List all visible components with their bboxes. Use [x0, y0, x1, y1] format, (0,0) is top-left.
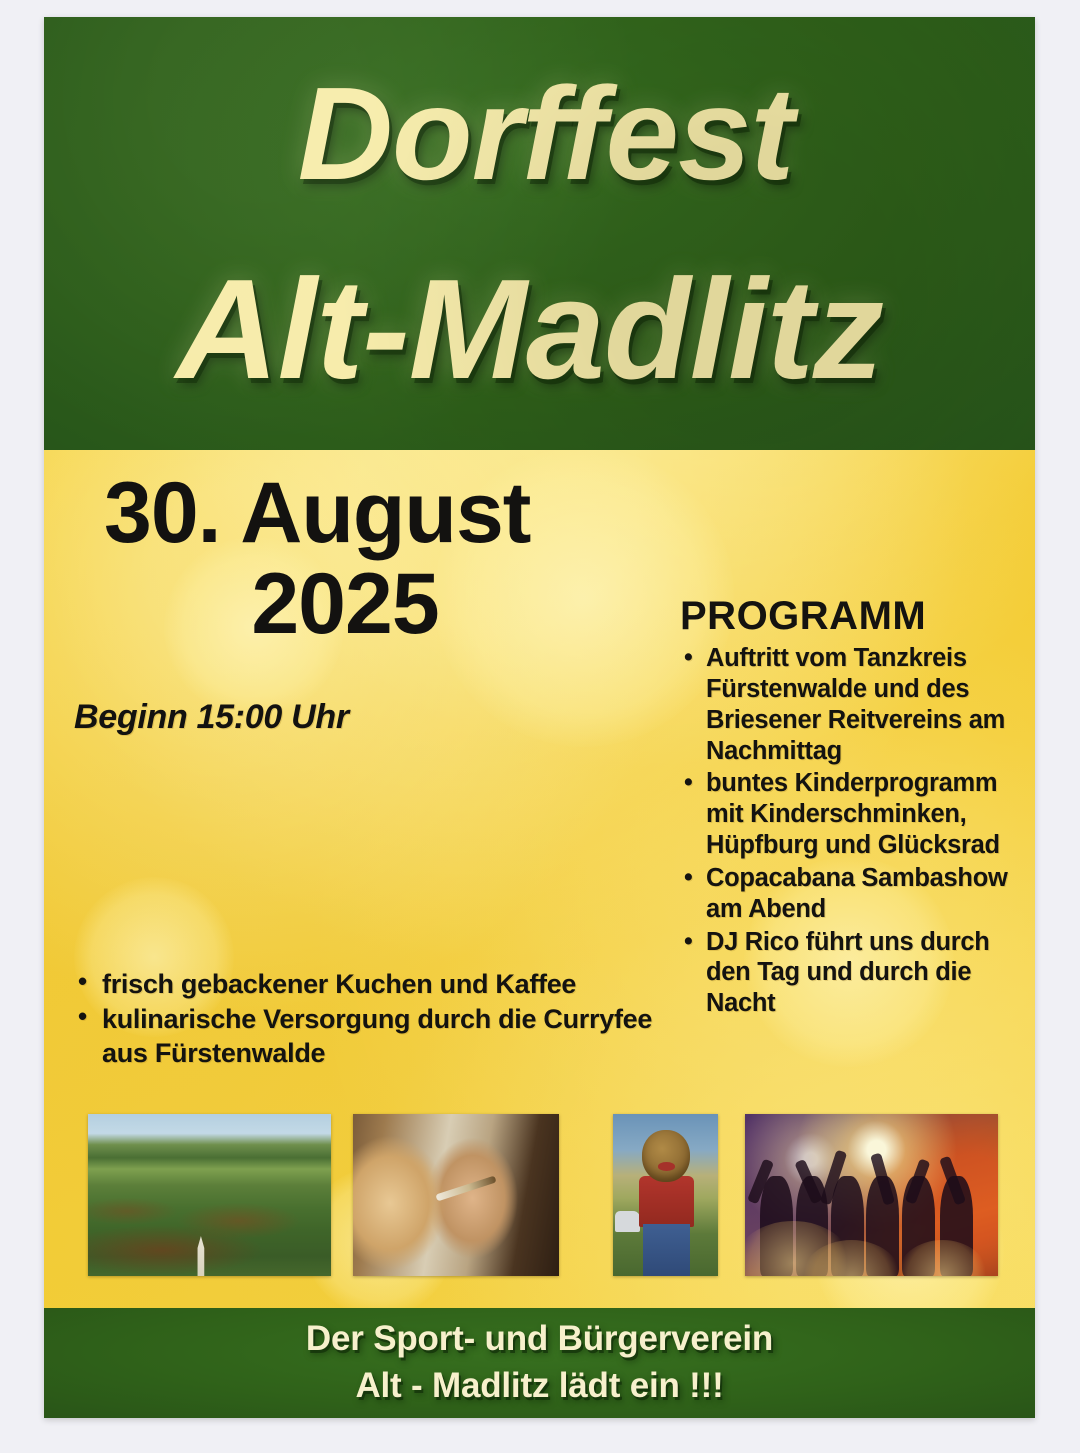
- programm-list-item: buntes Kinderprogramm mit Kinderschminke…: [682, 768, 1020, 861]
- footer-line-2: Alt - Madlitz lädt ein !!!: [44, 1366, 1035, 1406]
- programm-heading: PROGRAMM: [660, 594, 1020, 639]
- catering-section: frisch gebackener Kuchen und Kaffee kuli…: [60, 967, 700, 1071]
- event-date-day-month: 30. August: [60, 470, 660, 556]
- figure-legs-shape: [643, 1224, 689, 1276]
- photo-party-crowd-dancing: [745, 1114, 998, 1276]
- aerial-village-image: [88, 1114, 331, 1276]
- party-crowd-image: [745, 1114, 998, 1276]
- poster-footer-band: Der Sport- und Bürgerverein Alt - Madlit…: [44, 1308, 1035, 1418]
- poster-title-line-2: Alt-Madlitz: [44, 255, 1025, 404]
- poster-title-line-1: Dorffest: [50, 65, 1035, 204]
- event-poster: Dorffest Alt-Madlitz 30. August 2025 Beg…: [44, 17, 1035, 1418]
- catering-list: frisch gebackener Kuchen und Kaffee kuli…: [60, 967, 700, 1071]
- event-start-time: Beginn 15:00 Uhr: [60, 698, 660, 737]
- photo-straw-figure-scarecrow: [613, 1114, 718, 1276]
- photo-aerial-village-view: [88, 1114, 331, 1276]
- poster-header-band: Dorffest Alt-Madlitz: [44, 17, 1035, 450]
- catering-list-item: kulinarische Versorgung durch die Curryf…: [60, 1002, 700, 1071]
- event-date-year: 2025: [60, 556, 660, 652]
- programm-list-item: Auftritt vom Tanzkreis Fürstenwalde und …: [682, 643, 1020, 766]
- programm-list-item: Copacabana Sambashow am Abend: [682, 863, 1020, 925]
- programm-section: PROGRAMM Auftritt vom Tanzkreis Fürstenw…: [660, 594, 1020, 1021]
- face-painting-image: [353, 1114, 559, 1276]
- footer-line-1: Der Sport- und Bürgerverein: [44, 1319, 1035, 1359]
- photo-child-face-painting: [353, 1114, 559, 1276]
- car-shape: [615, 1211, 640, 1232]
- catering-list-item: frisch gebackener Kuchen und Kaffee: [60, 967, 700, 1002]
- figure-torso-shape: [639, 1176, 694, 1228]
- photo-strip: [88, 1097, 998, 1277]
- programm-list: Auftritt vom Tanzkreis Fürstenwalde und …: [660, 643, 1020, 1019]
- event-date-block: 30. August 2025 Beginn 15:00 Uhr: [60, 470, 660, 737]
- programm-list-item: DJ Rico führt uns durch den Tag und durc…: [682, 927, 1020, 1020]
- figure-head-shape: [642, 1130, 689, 1182]
- straw-figure-image: [613, 1114, 718, 1276]
